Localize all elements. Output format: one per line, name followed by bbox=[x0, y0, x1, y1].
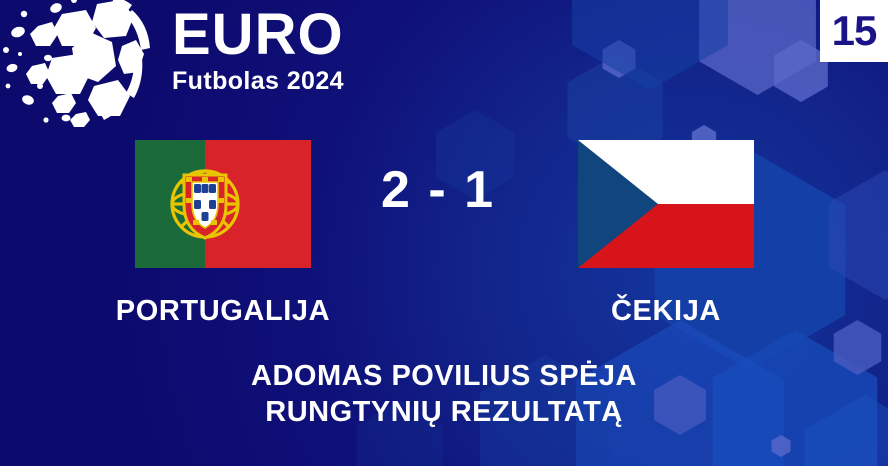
caption-block: ADOMAS POVILIUS SPĖJA RUNGTYNIŲ REZULTAT… bbox=[0, 358, 888, 430]
corner-number-badge: 15 bbox=[820, 0, 888, 62]
match-row: 2 - 1 bbox=[0, 140, 888, 270]
euro-2024-match-prediction-card: EURO Futbolas 2024 15 bbox=[0, 0, 888, 466]
corner-badge-number: 15 bbox=[832, 10, 877, 52]
team-name-away: ČEKIJA bbox=[540, 294, 792, 328]
euro-wordmark: EURO Futbolas 2024 bbox=[172, 4, 382, 96]
flag-portugal-icon bbox=[135, 140, 311, 268]
flag-czechia-icon bbox=[578, 140, 754, 268]
score-display: 2 - 1 bbox=[340, 162, 536, 218]
caption-line-1: ADOMAS POVILIUS SPĖJA bbox=[0, 358, 888, 394]
euro-logo: EURO Futbolas 2024 bbox=[0, 0, 380, 122]
caption-line-2: RUNGTYNIŲ REZULTATĄ bbox=[0, 394, 888, 430]
team-name-home: PORTUGALIJA bbox=[95, 294, 351, 328]
soccer-ball-icon bbox=[2, 0, 162, 128]
euro-subtitle: Futbolas 2024 bbox=[172, 66, 382, 96]
euro-title: EURO bbox=[172, 4, 382, 66]
